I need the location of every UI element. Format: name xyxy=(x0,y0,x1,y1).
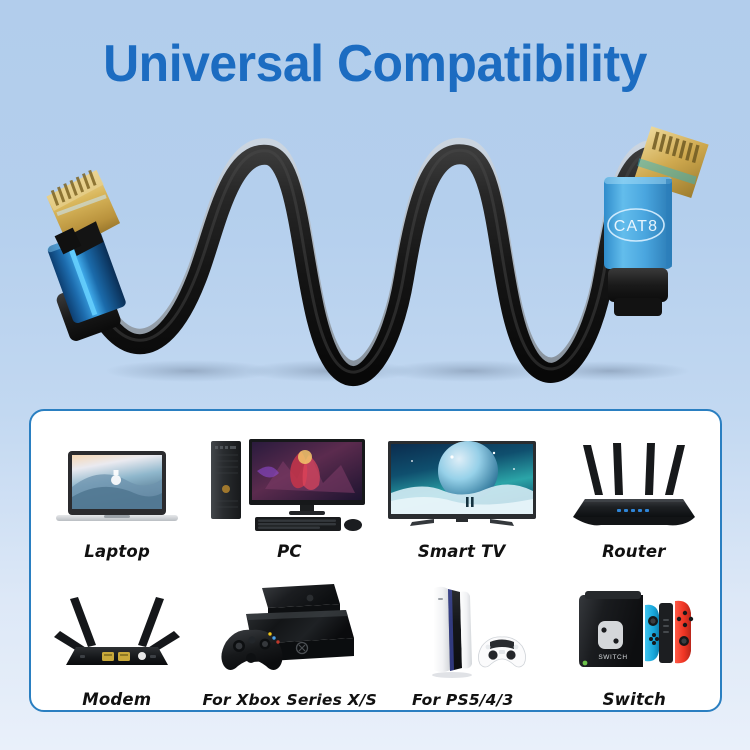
xbox-console-icon xyxy=(203,580,378,684)
device-label: Modem xyxy=(82,690,151,709)
device-item-switch: SWITCH xyxy=(549,565,721,713)
device-item-xbox: For Xbox Series X/S xyxy=(203,565,378,713)
device-item-laptop: Laptop xyxy=(31,417,203,565)
hero-cable-image: CAT8 xyxy=(0,105,750,395)
device-row-2: Modem xyxy=(31,565,720,713)
device-item-router: Router xyxy=(548,417,720,565)
device-label: Router xyxy=(602,542,665,561)
device-item-playstation: For PS5/4/3 xyxy=(377,565,549,713)
device-row-1: Laptop xyxy=(31,417,720,565)
device-label: Switch xyxy=(603,690,666,709)
desktop-pc-icon xyxy=(203,431,375,535)
rj45-connector-left xyxy=(37,167,127,343)
router-icon xyxy=(548,431,720,535)
flat-ethernet-cable xyxy=(78,148,660,376)
product-poster: Universal Compatibility xyxy=(0,0,750,750)
cable-ground-shadow xyxy=(105,360,690,382)
device-label: Smart TV xyxy=(418,542,506,561)
smart-tv-icon xyxy=(376,431,548,535)
device-label: For PS5/4/3 xyxy=(412,691,513,709)
svg-text:SWITCH: SWITCH xyxy=(599,654,628,661)
laptop-icon xyxy=(31,431,203,535)
device-label: PC xyxy=(277,542,302,561)
page-title: Universal Compatibility xyxy=(15,34,735,94)
device-label: For Xbox Series X/S xyxy=(203,691,378,709)
playstation-console-icon xyxy=(377,580,549,684)
compatible-devices-panel: Laptop xyxy=(29,409,722,712)
device-item-modem: Modem xyxy=(31,565,203,713)
modem-icon xyxy=(31,579,203,683)
nintendo-switch-icon: SWITCH xyxy=(549,579,721,683)
rj45-connector-right: CAT8 xyxy=(604,125,710,316)
device-label: Laptop xyxy=(84,542,150,561)
cat8-housing: CAT8 xyxy=(604,177,672,269)
strain-relief-boot xyxy=(608,268,668,302)
device-item-pc: PC xyxy=(203,417,375,565)
cat8-label: CAT8 xyxy=(614,218,659,235)
device-item-smart-tv: Smart TV xyxy=(376,417,548,565)
